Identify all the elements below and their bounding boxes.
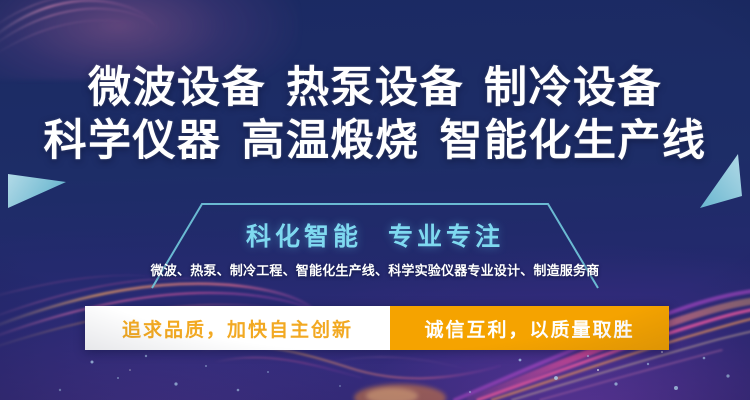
subtitle-right: 专业专注 <box>388 223 504 251</box>
headline-word-6: 智能化生产线 <box>440 117 707 165</box>
subtitle-slogan: 科化智能专业专注 <box>0 222 750 252</box>
headline-word-5: 高温煅烧 <box>242 117 420 165</box>
slogan-right-text: 诚信互利，以质量取胜 <box>424 315 634 342</box>
subtitle-left: 科化智能 <box>246 223 362 251</box>
headline-word-1: 微波设备 <box>88 64 266 112</box>
slogan-bar-left: 追求品质，加快自主创新 <box>85 306 390 350</box>
page-title: 微波设备热泵设备制冷设备 科学仪器高温煅烧智能化生产线 <box>0 62 750 168</box>
headline-word-3: 制冷设备 <box>484 64 662 112</box>
subtitle-description: 微波、热泵、制冷工程、智能化生产线、科学实验仪器专业设计、制造服务商 <box>0 262 750 280</box>
slogan-left-text: 追求品质，加快自主创新 <box>122 315 353 342</box>
slogan-bar-group: 追求品质，加快自主创新 诚信互利，以质量取胜 <box>85 306 669 350</box>
slogan-bar-right: 诚信互利，以质量取胜 <box>390 306 669 350</box>
headline-word-2: 热泵设备 <box>286 64 464 112</box>
promotional-banner: 微波设备热泵设备制冷设备 科学仪器高温煅烧智能化生产线 科化智能专业专注 微波、… <box>0 0 750 400</box>
headline-line-2: 科学仪器高温煅烧智能化生产线 <box>0 115 750 168</box>
headline-line-1: 微波设备热泵设备制冷设备 <box>0 62 750 115</box>
headline-word-4: 科学仪器 <box>44 117 222 165</box>
